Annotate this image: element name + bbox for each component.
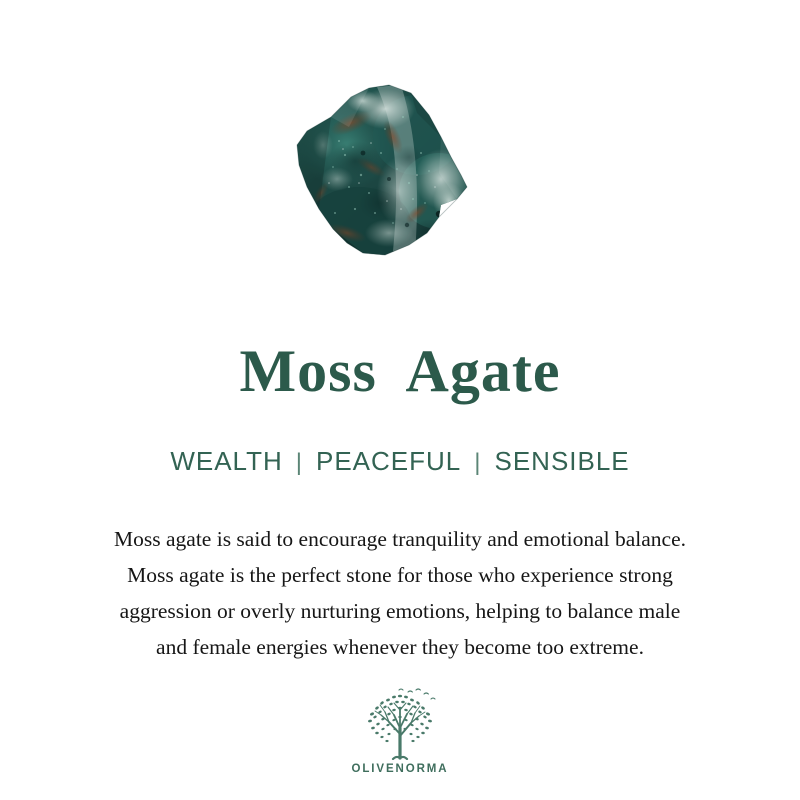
page-title: Moss Agate [0, 336, 800, 407]
keyword-wealth: WEALTH [170, 446, 282, 477]
keyword-separator: | [461, 449, 494, 477]
brand-logo: OLIVENORMA [0, 688, 800, 775]
tree-icon [358, 688, 442, 760]
keyword-peaceful: PEACEFUL [316, 446, 461, 477]
moss-agate-stone-image [289, 83, 471, 259]
description-line: aggression or overly nurturing emotions,… [40, 593, 760, 629]
keyword-sensible: SENSIBLE [494, 446, 629, 477]
description-text: Moss agate is said to encourage tranquil… [40, 521, 760, 665]
keyword-separator: | [283, 449, 316, 477]
keyword-list: WEALTH | PEACEFUL | SENSIBLE [0, 446, 800, 477]
brand-wordmark: OLIVENORMA [352, 763, 449, 775]
product-info-card: Moss Agate WEALTH | PEACEFUL | SENSIBLE … [0, 0, 800, 800]
moss-agate-stone-svg [289, 83, 471, 259]
description-line: Moss agate is said to encourage tranquil… [40, 521, 760, 557]
description-line: and female energies whenever they become… [40, 629, 760, 665]
description-line: Moss agate is the perfect stone for thos… [40, 557, 760, 593]
